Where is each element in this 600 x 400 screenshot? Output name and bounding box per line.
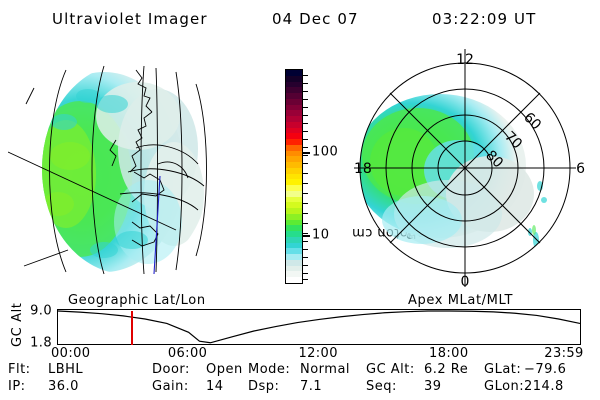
colorbar-minor-tick — [302, 249, 308, 250]
uvi-display: Ultraviolet Imager 04 Dec 07 03:22:09 UT — [0, 0, 600, 400]
colorbar-minor-tick — [302, 147, 308, 148]
colorbar-minor-tick — [302, 83, 308, 84]
colorbar-minor-tick — [302, 257, 308, 258]
status-label: GLat: — [484, 362, 521, 377]
colorbar-minor-tick — [302, 139, 308, 140]
colorbar-panel: photon cm−2s−1 10010 — [255, 56, 355, 296]
status-value: −79.6 — [524, 362, 566, 377]
status-label: Mode: — [248, 362, 290, 377]
colorbar-minor-tick — [302, 213, 308, 214]
colorbar-minor-tick — [302, 223, 308, 224]
status-label: Flt: — [8, 362, 31, 377]
observation-date: 04 Dec 07 — [272, 10, 359, 28]
colorbar-axis-label: photon cm−2s−1 — [253, 96, 273, 256]
orbit-y-tick-label: 9.0 — [14, 304, 52, 319]
colorbar-minor-tick — [302, 273, 308, 274]
orbit-x-tick-label: 00:00 — [51, 346, 90, 361]
orbit-plot-frame[interactable] — [57, 309, 581, 345]
colorbar-tick-label: 10 — [312, 228, 330, 243]
status-value: 214.8 — [524, 379, 564, 394]
status-value: Open — [206, 362, 243, 377]
colorbar-ticks — [302, 69, 310, 284]
mlat-label-60: 60 — [520, 110, 544, 134]
status-value: 39 — [424, 379, 442, 394]
colorbar-tick-label: 100 — [312, 145, 338, 160]
colorbar-band — [286, 277, 302, 283]
colorbar-minor-tick — [302, 115, 308, 116]
colorbar-minor-tick — [302, 193, 308, 194]
colorbar-minor-tick — [302, 203, 308, 204]
status-label: GLon: — [484, 379, 524, 394]
mlt-label-top: 12 — [456, 52, 474, 68]
colorbar-minor-tick — [302, 107, 308, 108]
orbit-altitude-plot[interactable]: GC Alt 9.01.8 00:0006:0012:0018:0023:59 — [0, 305, 600, 360]
status-label: Seq: — [366, 379, 397, 394]
status-value: 14 — [206, 379, 224, 394]
mlt-label-bottom: 0 — [461, 274, 470, 290]
apex-polar-image[interactable]: 12 6 0 18 80 70 60 — [352, 44, 592, 294]
colorbar-minor-tick — [302, 91, 308, 92]
observation-time: 03:22:09 UT — [432, 10, 536, 28]
status-value: 7.1 — [300, 379, 322, 394]
colorbar-scale[interactable] — [285, 69, 303, 284]
orbit-y-tick-label: 1.8 — [14, 336, 52, 351]
colorbar-minor-tick — [302, 173, 308, 174]
geographic-globe-panel[interactable] — [8, 44, 248, 294]
colorbar-minor-tick — [302, 183, 308, 184]
status-label: Gain: — [152, 379, 189, 394]
status-label: GC Alt: — [366, 362, 415, 377]
orbit-x-tick-label: 12:00 — [298, 346, 337, 361]
colorbar-minor-tick — [302, 99, 308, 100]
status-value: 6.2 Re — [424, 362, 468, 377]
colorbar-minor-tick — [302, 131, 308, 132]
colorbar-minor-tick — [302, 163, 308, 164]
mlt-label-left: 18 — [354, 161, 372, 177]
colorbar-minor-tick — [302, 241, 308, 242]
apex-polar-panel[interactable]: 12 6 0 18 80 70 60 — [352, 44, 592, 294]
geographic-globe-image[interactable] — [8, 44, 248, 294]
status-label: Dsp: — [248, 379, 279, 394]
status-value: 36.0 — [48, 379, 79, 394]
status-value: LBHL — [48, 362, 83, 377]
colorbar-minor-tick — [302, 265, 308, 266]
orbit-altitude-curve — [58, 310, 580, 344]
orbit-y-axis-title: GC Alt — [0, 307, 14, 347]
status-label: Door: — [152, 362, 190, 377]
status-label: IP: — [8, 379, 26, 394]
orbit-x-tick-label: 23:59 — [544, 346, 583, 361]
mlt-label-right: 6 — [576, 161, 585, 177]
colorbar-major-tick — [302, 152, 310, 154]
colorbar-minor-tick — [302, 233, 308, 234]
colorbar-major-tick — [302, 235, 310, 237]
colorbar-gradient — [286, 70, 302, 283]
polar-grid — [354, 49, 576, 287]
status-footer: Flt:LBHLDoor:OpenMode:NormalGC Alt:6.2 R… — [0, 362, 600, 400]
header-bar: Ultraviolet Imager 04 Dec 07 03:22:09 UT — [0, 6, 600, 32]
colorbar-minor-tick — [302, 75, 308, 76]
instrument-title: Ultraviolet Imager — [52, 10, 208, 28]
status-value: Normal — [300, 362, 350, 377]
orbit-x-tick-label: 06:00 — [168, 346, 207, 361]
current-time-cursor — [131, 311, 133, 345]
colorbar-minor-tick — [302, 155, 308, 156]
colorbar-minor-tick — [302, 279, 308, 280]
orbit-x-tick-label: 18:00 — [429, 346, 468, 361]
colorbar-minor-tick — [302, 123, 308, 124]
